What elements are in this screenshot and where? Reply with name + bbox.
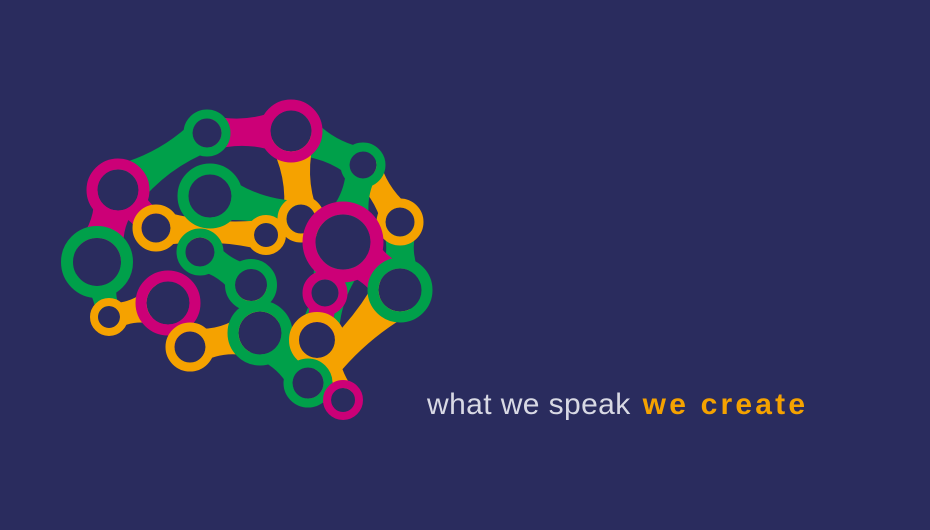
network-node-hole [379,269,422,312]
network-node-hole [271,111,312,152]
network-node-hole [175,332,206,363]
network-nodes-group [67,105,427,416]
tagline-spacer [631,390,643,420]
network-node-hole [331,388,355,412]
network-node-hole [312,280,339,307]
canvas: what we speak we create [0,0,930,530]
network-node-hole [73,238,121,286]
network-node-hole [98,170,139,211]
network-node-hole [386,208,415,237]
network-node-hole [299,322,335,358]
tagline-light-text: what we speak [427,390,631,420]
network-node-hole [98,306,120,328]
network-node-hole [293,368,324,399]
network-node-hole [193,119,222,148]
tagline: what we speak we create [427,390,808,426]
tagline-accent-text: we create [643,390,809,420]
network-node-hole [254,223,278,247]
network-node-hole [350,152,377,179]
network-node-hole [189,175,232,218]
network-node-hole [186,238,215,267]
network-node-hole [239,312,282,355]
network-node-hole [316,215,371,270]
network-node-hole [147,282,190,325]
network-node-hole [235,269,267,301]
brain-network-svg [55,95,445,435]
network-node-hole [142,214,171,243]
brain-network-logo [55,95,445,435]
